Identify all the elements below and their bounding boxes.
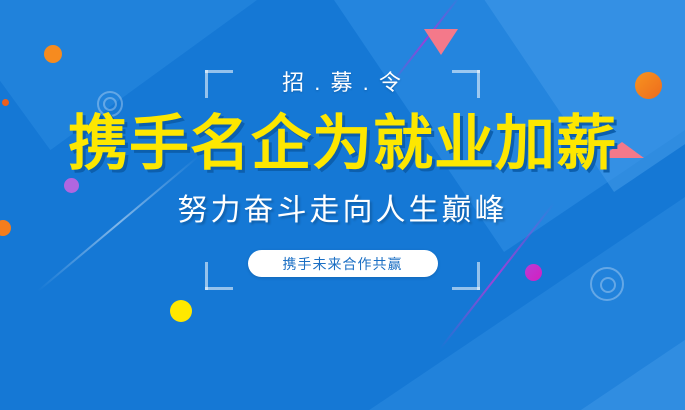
- cta-pill-button[interactable]: 携手未来合作共赢: [248, 250, 438, 277]
- banner-eyebrow: 招 . 募 . 令: [282, 72, 403, 94]
- recruitment-banner: 招 . 募 . 令 携手名企为就业加薪 努力奋斗走向人生巅峰 携手未来合作共赢: [0, 0, 685, 410]
- banner-subtitle: 努力奋斗走向人生巅峰: [178, 196, 508, 226]
- banner-content: 招 . 募 . 令 携手名企为就业加薪 努力奋斗走向人生巅峰 携手未来合作共赢: [0, 0, 685, 410]
- banner-title: 携手名企为就业加薪: [68, 114, 617, 174]
